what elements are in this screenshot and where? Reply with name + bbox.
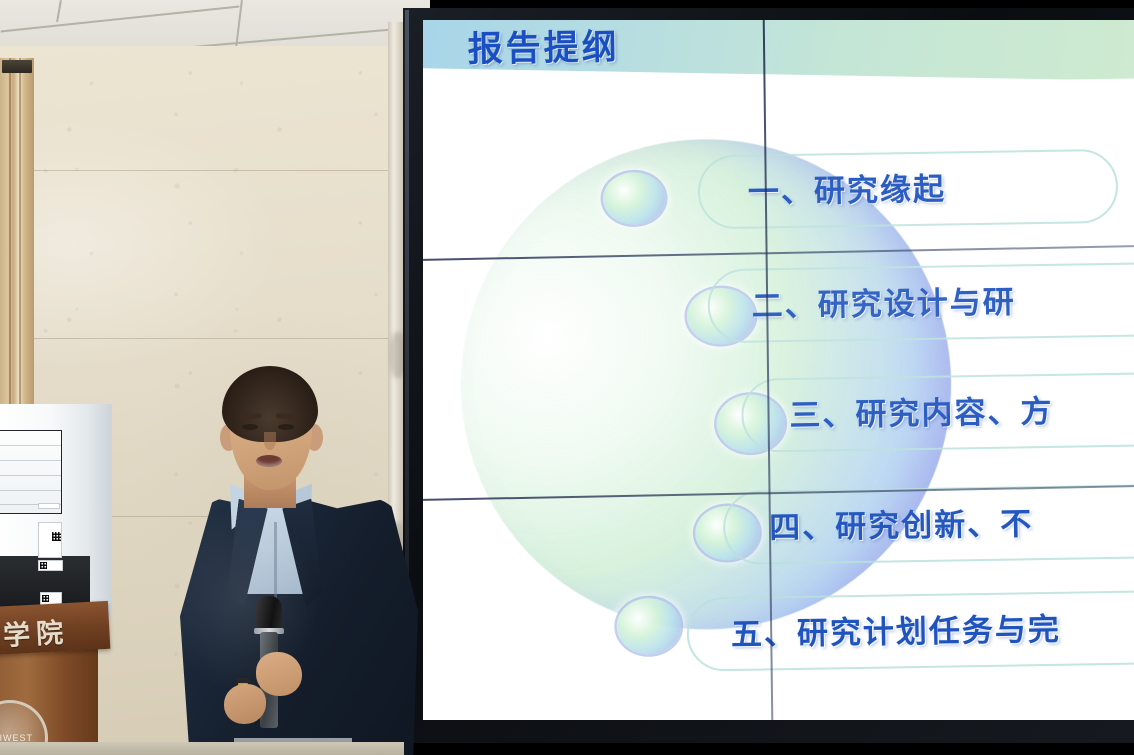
eye-right (278, 424, 294, 430)
outline-item-3-label: 三、研究内容、方 (789, 386, 1054, 435)
nose (264, 432, 276, 450)
microphone-head (256, 596, 282, 632)
presentation-slide: 报告提纲 一、研究缘起 二、研究设计与研 三、研究内容、方 (423, 20, 1134, 720)
appliance-top-label (38, 503, 60, 509)
outline-item-1-label: 一、研究缘起 (748, 164, 947, 212)
outline-item-4-label: 四、研究创新、不 (769, 498, 1034, 547)
slide-title: 报告提纲 (467, 20, 620, 72)
hand-holding-microphone (256, 652, 302, 696)
appliance-qr-code-3 (42, 595, 49, 602)
appliance-qr-code-2 (40, 562, 47, 569)
video-wall-screen[interactable]: 报告提纲 一、研究缘起 二、研究设计与研 三、研究内容、方 (423, 20, 1134, 720)
eye-left (242, 424, 258, 430)
floor-strip (0, 742, 404, 755)
outline-item-2-label: 二、研究设计与研 (751, 276, 1016, 325)
mouth (256, 455, 282, 467)
outline-item-5-label: 五、研究计划任务与完 (731, 604, 1062, 654)
appliance-front-panel (0, 430, 62, 514)
hand-holding-clicker (224, 684, 266, 724)
podium-sign-text: 学院 (2, 608, 114, 653)
speaker-person (178, 362, 420, 755)
conference-room-scene: 报告提纲 一、研究缘起 二、研究设计与研 三、研究内容、方 (0, 0, 1134, 755)
bubble-icon-5 (616, 598, 681, 655)
appliance-qr-code-1 (52, 532, 61, 541)
speaker-hair (222, 366, 318, 442)
